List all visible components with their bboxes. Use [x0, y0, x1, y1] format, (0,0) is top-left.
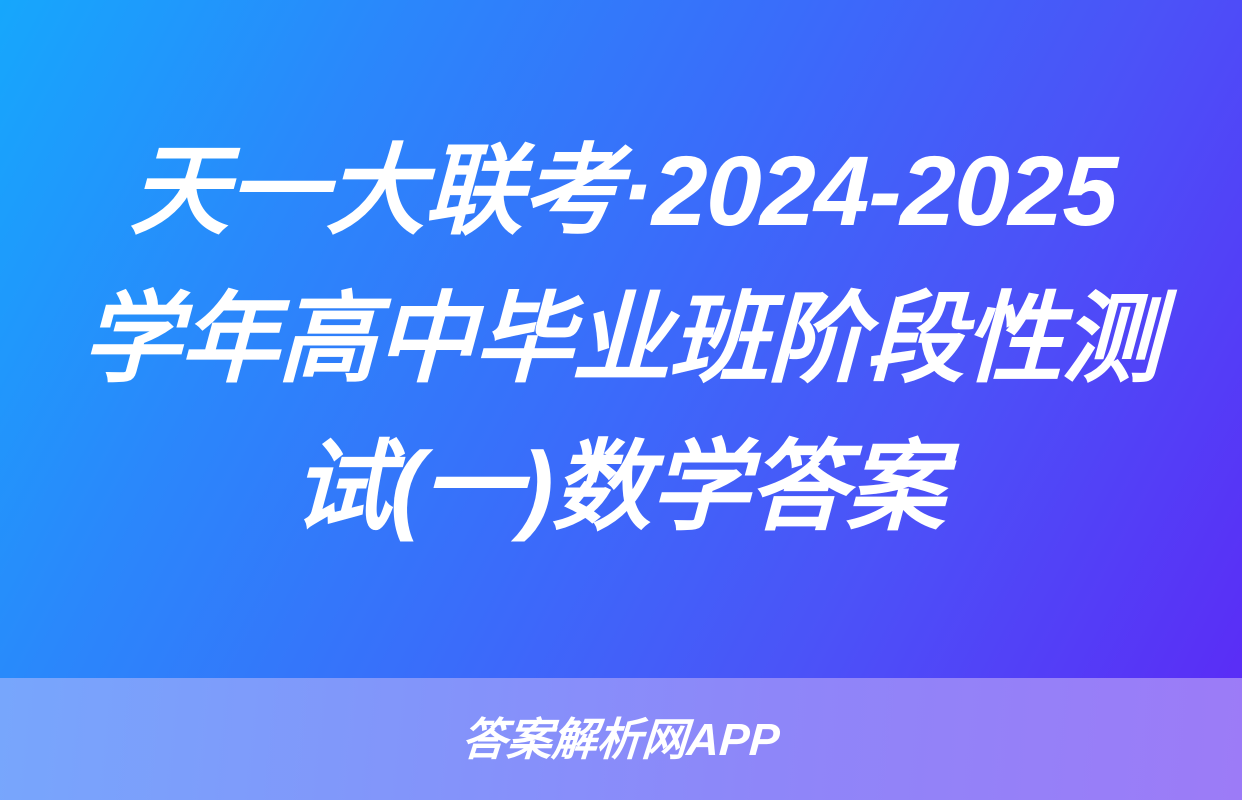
hero-gradient-panel: 天一大联考·2024-2025 学年高中毕业班阶段性测 试(一)数学答案: [0, 0, 1242, 678]
app-watermark-band: 答案解析网APP: [0, 678, 1242, 800]
poster-root: 天一大联考·2024-2025 学年高中毕业班阶段性测 试(一)数学答案 答案解…: [0, 0, 1242, 800]
page-title: 天一大联考·2024-2025 学年高中毕业班阶段性测 试(一)数学答案: [56, 117, 1186, 561]
app-watermark-label: 答案解析网APP: [461, 717, 782, 762]
